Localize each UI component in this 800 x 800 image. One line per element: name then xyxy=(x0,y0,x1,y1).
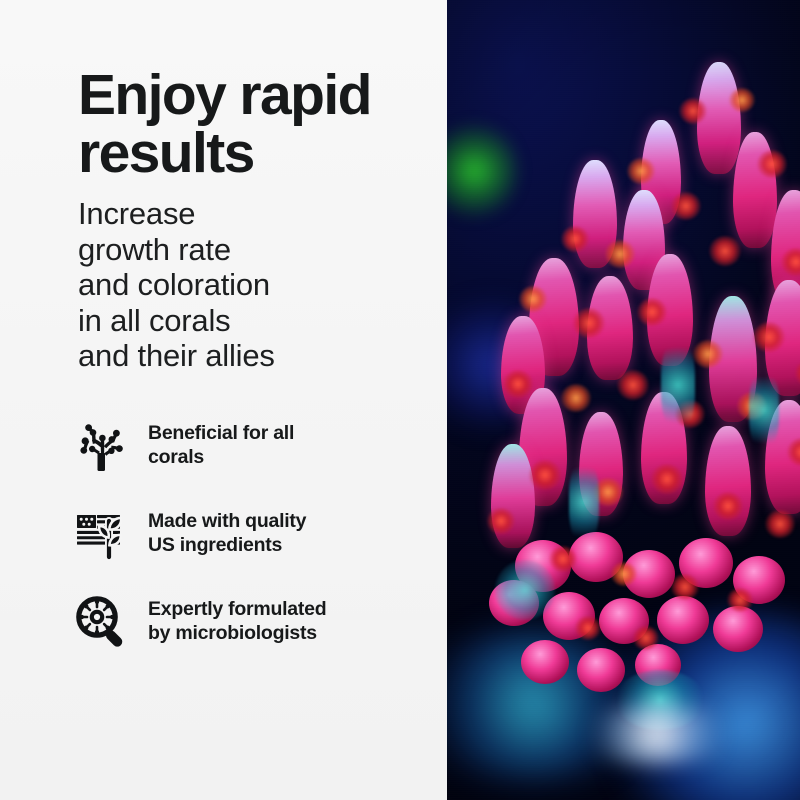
promo-banner: Enjoy rapid results Increase growth rate… xyxy=(0,0,800,800)
list-item-label: Made with quality US ingredients xyxy=(148,509,306,557)
text-panel: Enjoy rapid results Increase growth rate… xyxy=(0,0,447,800)
coral-colony xyxy=(465,40,800,800)
list-item-label: Beneficial for all corals xyxy=(148,421,294,469)
list-item: Made with quality US ingredients xyxy=(70,498,430,568)
us-flag-sprout-icon xyxy=(70,502,132,564)
page-title: Enjoy rapid results xyxy=(78,66,418,182)
coral-photograph xyxy=(447,0,800,800)
feature-list: Beneficial for all corals xyxy=(70,410,430,674)
list-item: Expertly formulated by microbiologists xyxy=(70,586,430,656)
subheadline-text: Increase growth rate and coloration in a… xyxy=(78,196,418,374)
coral-icon xyxy=(70,414,132,476)
list-item: Beneficial for all corals xyxy=(70,410,430,480)
product-photo-panel xyxy=(447,0,800,800)
list-item-label: Expertly formulated by microbiologists xyxy=(148,597,326,645)
white-highlight-accent xyxy=(577,704,737,764)
magnifier-microbe-icon xyxy=(70,590,132,652)
